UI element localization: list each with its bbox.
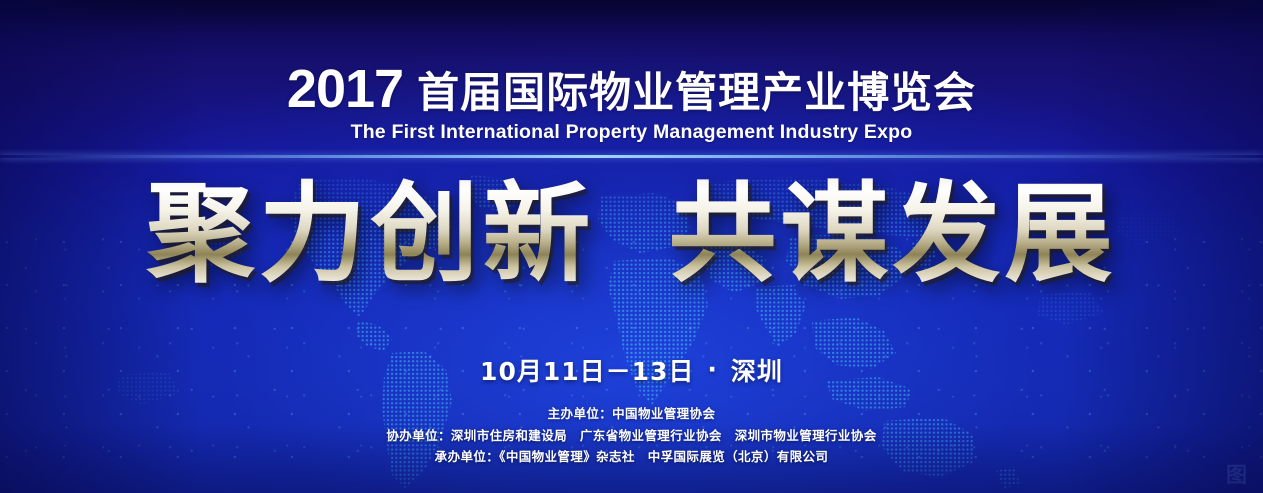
event-city: 深圳 xyxy=(731,357,783,386)
title-line: 2017 首届国际物业管理产业博览会 xyxy=(0,60,1263,114)
slogan-headline: 聚力创新共谋发展 xyxy=(0,178,1263,292)
organizer-line-host: 主办单位：中国物业管理协会 xyxy=(0,403,1263,425)
date-location-separator: · xyxy=(707,355,718,384)
event-title-english: The First International Property Managem… xyxy=(0,121,1263,144)
header-divider-line xyxy=(0,155,1263,158)
organizer-line-cohost: 协办单位：深圳市住房和建设局 广东省物业管理行业协会 深圳市物业管理行业协会 xyxy=(0,425,1263,447)
slogan-metal-wrapper: 聚力创新共谋发展 xyxy=(146,178,1116,292)
event-date: 10月11日－13日 xyxy=(480,357,694,386)
banner-header: 2017 首届国际物业管理产业博览会 The First Internation… xyxy=(0,60,1263,144)
expo-banner: 2017 首届国际物业管理产业博览会 The First Internation… xyxy=(0,0,1263,493)
event-year: 2017 xyxy=(287,62,403,116)
slogan-left: 聚力创新 xyxy=(146,172,594,297)
date-location-line: 10月11日－13日·深圳 xyxy=(0,352,1263,388)
top-vignette xyxy=(0,0,1263,60)
slogan-right: 共谋发展 xyxy=(669,172,1117,297)
organizer-block: 主办单位：中国物业管理协会 协办单位：深圳市住房和建设局 广东省物业管理行业协会… xyxy=(0,403,1263,468)
organizer-line-organizer: 承办单位：《中国物业管理》杂志社 中孚国际展览（北京）有限公司 xyxy=(0,446,1263,468)
event-title-chinese: 首届国际物业管理产业博览会 xyxy=(417,72,976,114)
